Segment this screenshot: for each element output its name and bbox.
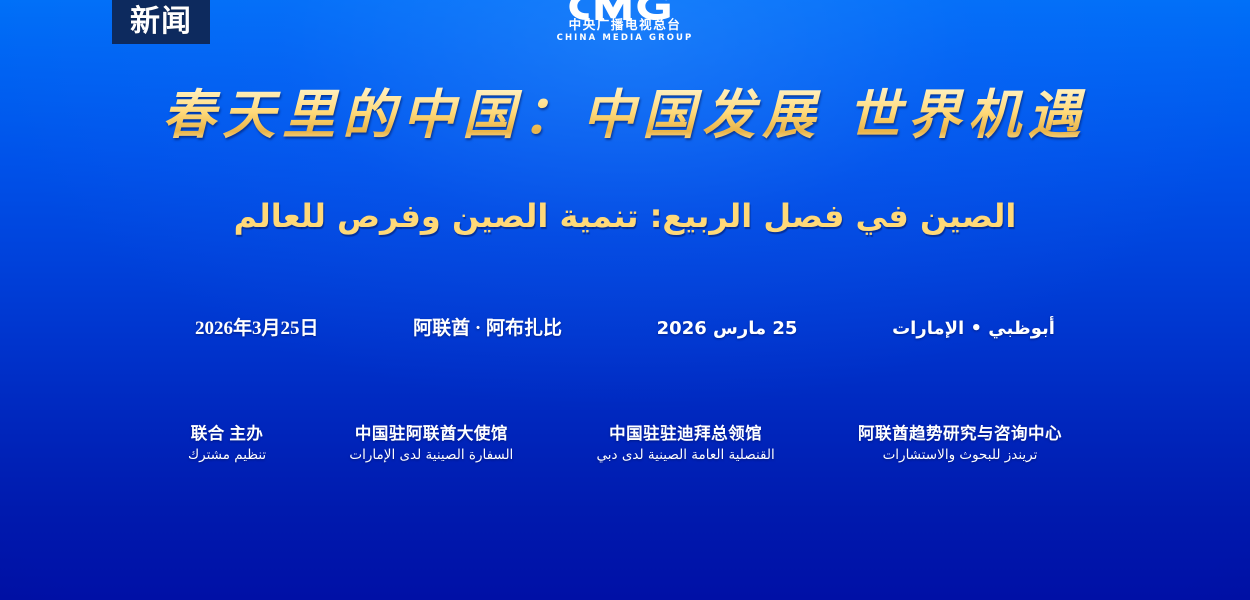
event-location-ar: أبوظبي • الإمارات xyxy=(892,318,1055,340)
cmg-name-en: CHINA MEDIA GROUP xyxy=(557,33,694,43)
broadcast-title-card: 新闻 中央广播电视总台 CHINA MEDIA GROUP 春天里的中国：中国发… xyxy=(0,0,1250,600)
cmg-name-cn: 中央广播电视总台 xyxy=(569,18,682,32)
organizer-consulate-dubai-cn: 中国驻驻迪拜总领馆 xyxy=(609,424,762,445)
event-meta-row: 2026年3月25日 阿联酋 · 阿布扎比 25 مارس 2026 أبوظب… xyxy=(195,318,1055,341)
event-title-arabic: الصين في فصل الربيع: تنمية الصين وفرص لل… xyxy=(0,196,1250,236)
organizer-label: 联合 主办 تنظيم مشترك xyxy=(188,424,266,464)
organizer-embassy-uae: 中国驻阿联酋大使馆 السفارة الصينية لدى الإمارات xyxy=(349,424,513,464)
event-location-cn: 阿联酋 · 阿布扎比 xyxy=(413,318,562,341)
organizer-consulate-dubai-ar: القنصلية العامة الصينية لدى دبي xyxy=(597,447,775,465)
organizer-embassy-uae-ar: السفارة الصينية لدى الإمارات xyxy=(349,447,513,465)
cmg-wordmark-icon xyxy=(566,0,685,20)
organizers-row: 联合 主办 تنظيم مشترك 中国驻阿联酋大使馆 السفارة الصي… xyxy=(188,424,1062,464)
organizer-label-cn: 联合 主办 xyxy=(191,424,264,445)
event-title-chinese: 春天里的中国：中国发展 世界机遇 xyxy=(0,86,1250,144)
organizer-consulate-dubai: 中国驻驻迪拜总领馆 القنصلية العامة الصينية لدى دب… xyxy=(597,424,775,464)
organizer-embassy-uae-cn: 中国驻阿联酋大使馆 xyxy=(355,424,508,445)
channel-badge: 新闻 xyxy=(112,0,210,44)
event-date-ar: 25 مارس 2026 xyxy=(657,318,798,340)
organizer-trends-center-cn: 阿联酋趋势研究与咨询中心 xyxy=(858,424,1062,445)
organizer-trends-center-ar: تريندز للبحوث والاستشارات xyxy=(883,447,1038,465)
channel-badge-label: 新闻 xyxy=(130,7,192,37)
event-date-cn: 2026年3月25日 xyxy=(195,318,319,341)
organizer-trends-center: 阿联酋趋势研究与咨询中心 تريندز للبحوث والاستشارات xyxy=(858,424,1062,464)
organizer-label-ar: تنظيم مشترك xyxy=(188,447,266,465)
